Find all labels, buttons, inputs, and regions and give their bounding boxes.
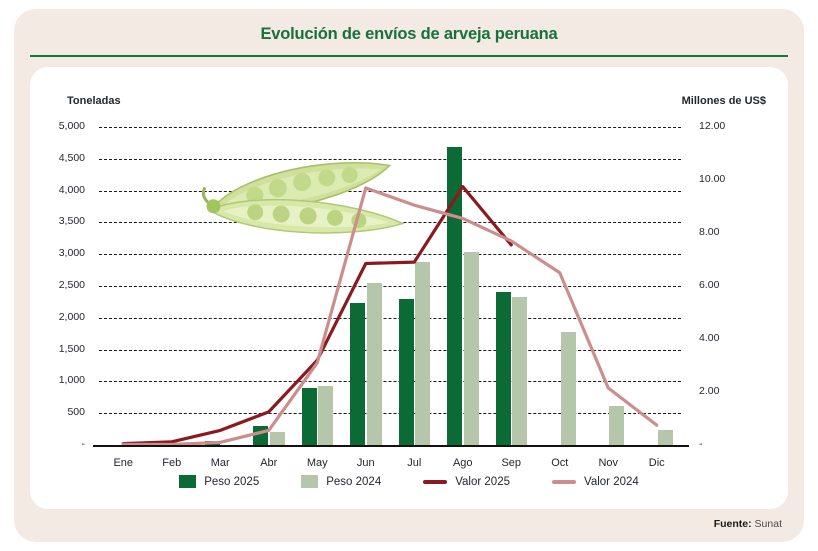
y-tick-left-label: 3,500 — [25, 216, 85, 227]
x-axis-baseline — [93, 445, 689, 447]
y-tick-left-label: 5,000 — [25, 121, 85, 132]
legend-swatch-peso-2024 — [301, 475, 318, 488]
x-tick-label: Abr — [245, 457, 293, 469]
x-tick-label: Jun — [342, 457, 390, 469]
y-tick-left-label: 1,500 — [25, 344, 85, 355]
chart-legend: Peso 2025Peso 2024Valor 2025Valor 2024 — [30, 475, 788, 488]
y-tick-left-label: 500 — [25, 407, 85, 418]
x-tick-label: Sep — [487, 457, 535, 469]
y-tick-right-label: 4.00 — [699, 333, 759, 344]
left-axis-caption: Toneladas — [67, 95, 121, 107]
y-tick-right-label: 10.00 — [699, 174, 759, 185]
x-tick-label: Mar — [196, 457, 244, 469]
source-footer: Fuente: Sunat — [714, 518, 782, 530]
legend-label-peso-2024: Peso 2024 — [326, 476, 381, 488]
y-tick-left-label: 2,000 — [25, 312, 85, 323]
y-tick-left-label: 3,000 — [25, 248, 85, 259]
legend-swatch-valor-2024 — [552, 480, 576, 484]
legend-swatch-valor-2025 — [423, 480, 447, 484]
y-tick-left-label: 4,500 — [25, 153, 85, 164]
y-tick-left-label: 4,000 — [25, 185, 85, 196]
page-title: Evolución de envíos de arveja peruana — [14, 25, 804, 44]
legend-item-valor-2025[interactable]: Valor 2025 — [423, 476, 510, 488]
line-valor-2025 — [123, 187, 511, 444]
y-tick-right-label: 2.00 — [699, 386, 759, 397]
y-tick-left-label: - — [25, 439, 85, 450]
legend-label-valor-2024: Valor 2024 — [584, 476, 639, 488]
y-tick-right-label: 12.00 — [699, 121, 759, 132]
legend-label-peso-2025: Peso 2025 — [204, 476, 259, 488]
x-tick-label: Nov — [584, 457, 632, 469]
line-valor-2024 — [123, 188, 657, 445]
y-tick-right-label: - — [699, 439, 759, 450]
right-axis-caption: Millones de US$ — [682, 95, 766, 107]
y-tick-right-label: 6.00 — [699, 280, 759, 291]
title-divider — [30, 55, 788, 57]
screenshot-root: Evolución de envíos de arveja peruana To… — [0, 0, 818, 551]
x-tick-label: Dic — [633, 457, 681, 469]
chart-panel: Toneladas Millones de US$ -5001,0001,500… — [30, 67, 788, 509]
legend-swatch-peso-2025 — [179, 475, 196, 488]
x-tick-label: Ene — [99, 457, 147, 469]
source-value: Sunat — [752, 518, 782, 530]
source-label: Fuente: — [714, 518, 752, 530]
y-tick-right-label: 8.00 — [699, 227, 759, 238]
lines-layer — [99, 127, 681, 445]
x-tick-label: May — [293, 457, 341, 469]
x-tick-label: Oct — [536, 457, 584, 469]
plot-area: -5001,0001,5002,0002,5003,0003,5004,0004… — [99, 127, 681, 445]
legend-item-peso-2025[interactable]: Peso 2025 — [179, 475, 259, 488]
x-tick-label: Feb — [148, 457, 196, 469]
report-card: Evolución de envíos de arveja peruana To… — [14, 9, 804, 542]
y-tick-left-label: 2,500 — [25, 280, 85, 291]
legend-label-valor-2025: Valor 2025 — [455, 476, 510, 488]
legend-item-peso-2024[interactable]: Peso 2024 — [301, 475, 381, 488]
legend-item-valor-2024[interactable]: Valor 2024 — [552, 476, 639, 488]
x-tick-label: Ago — [439, 457, 487, 469]
x-tick-label: Jul — [390, 457, 438, 469]
y-tick-left-label: 1,000 — [25, 375, 85, 386]
